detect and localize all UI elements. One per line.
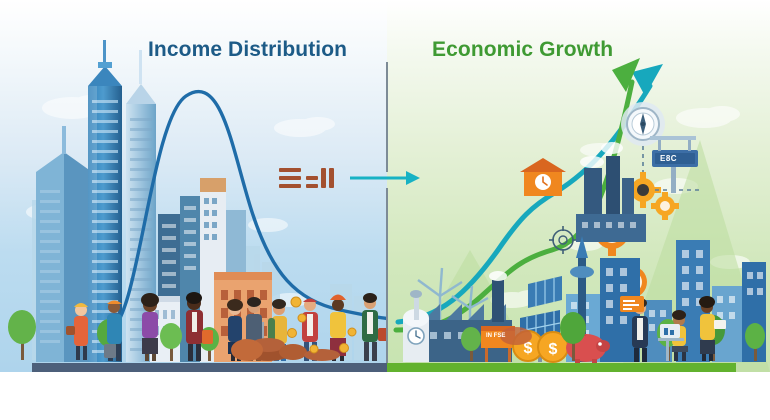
growth-arrow-teal-head	[632, 64, 663, 96]
market-stall-label: IN FSE	[486, 333, 505, 339]
right-panel-title: Economic Growth	[432, 38, 613, 62]
left-panel-title: Income Distribution	[148, 38, 347, 62]
home-value-icon	[520, 158, 566, 196]
infographic-canvas: $	[0, 0, 770, 420]
bottom-whitespace	[0, 372, 770, 420]
illustration-scene: $	[0, 0, 770, 372]
svg-text:$: $	[549, 341, 558, 358]
ground-strip-left	[32, 363, 387, 372]
wealth-transfer-bars-icon	[279, 166, 337, 192]
billboard-label: E8C	[660, 154, 677, 163]
silo-tower	[403, 290, 429, 362]
right-city-group: $	[396, 58, 770, 372]
panel-divider-bottom	[386, 188, 388, 370]
ground-strip-right	[387, 363, 736, 372]
panel-divider-top	[386, 62, 388, 172]
